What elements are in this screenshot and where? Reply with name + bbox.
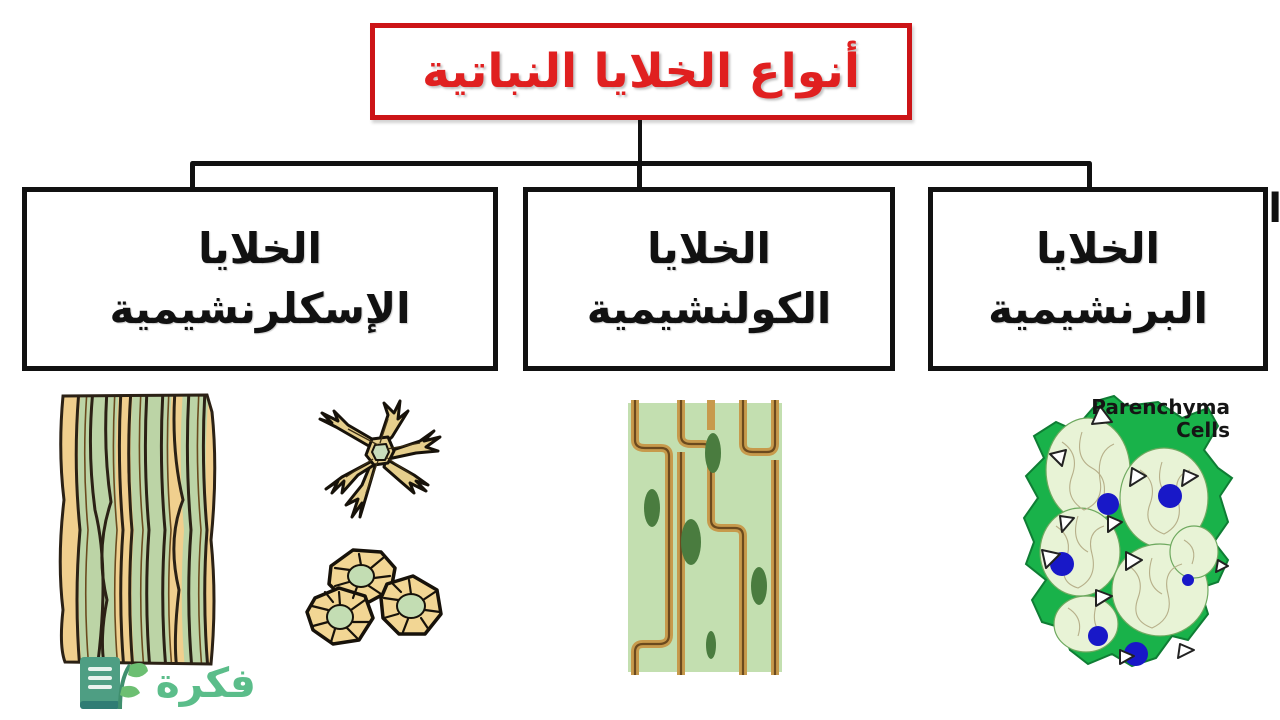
collenchyma-cells-illustration: [625, 400, 785, 679]
category-label-line1: الخلايا: [1036, 219, 1160, 279]
category-label-line2: الإسكلرنشيمية: [109, 279, 410, 339]
parenchyma-caption-line2: Cells: [1176, 418, 1230, 442]
category-label-line1: الخلايا: [198, 219, 322, 279]
parenchyma-caption-line1: Parenchyma: [1091, 395, 1230, 419]
category-box-parenchyma: الخلايا البرنشيمية: [928, 187, 1268, 371]
connector-stem: [638, 120, 642, 165]
astrosclereid-illustration: [288, 393, 460, 537]
category-label-line1: الخلايا: [647, 219, 771, 279]
book-plant-icon: [74, 651, 152, 715]
connector-drop-left: [190, 164, 195, 189]
category-box-sclerenchyma: الخلايا الإسكلرنشيمية: [22, 187, 498, 371]
connector-drop-middle: [637, 164, 642, 189]
watermark-logo: فكرة: [6, 650, 256, 716]
category-label-line2: الكولنشيمية: [587, 279, 832, 339]
stone-cells-cluster-illustration: [295, 538, 460, 657]
category-box-collenchyma: الخلايا الكولنشيمية: [523, 187, 895, 371]
category-label-line2: البرنشيمية: [988, 279, 1208, 339]
connector-drop-right: [1087, 164, 1092, 189]
sclerenchyma-fibers-illustration: [55, 390, 220, 674]
parenchyma-cells-illustration: Parenchyma Cells: [1022, 392, 1237, 681]
page-title: أنواع الخلايا النباتية: [422, 48, 860, 95]
watermark-text: فكرة: [156, 659, 256, 707]
diagram-title-box: أنواع الخلايا النباتية: [370, 23, 912, 120]
offscreen-category-text-fragment: الخلايا: [1270, 180, 1280, 380]
